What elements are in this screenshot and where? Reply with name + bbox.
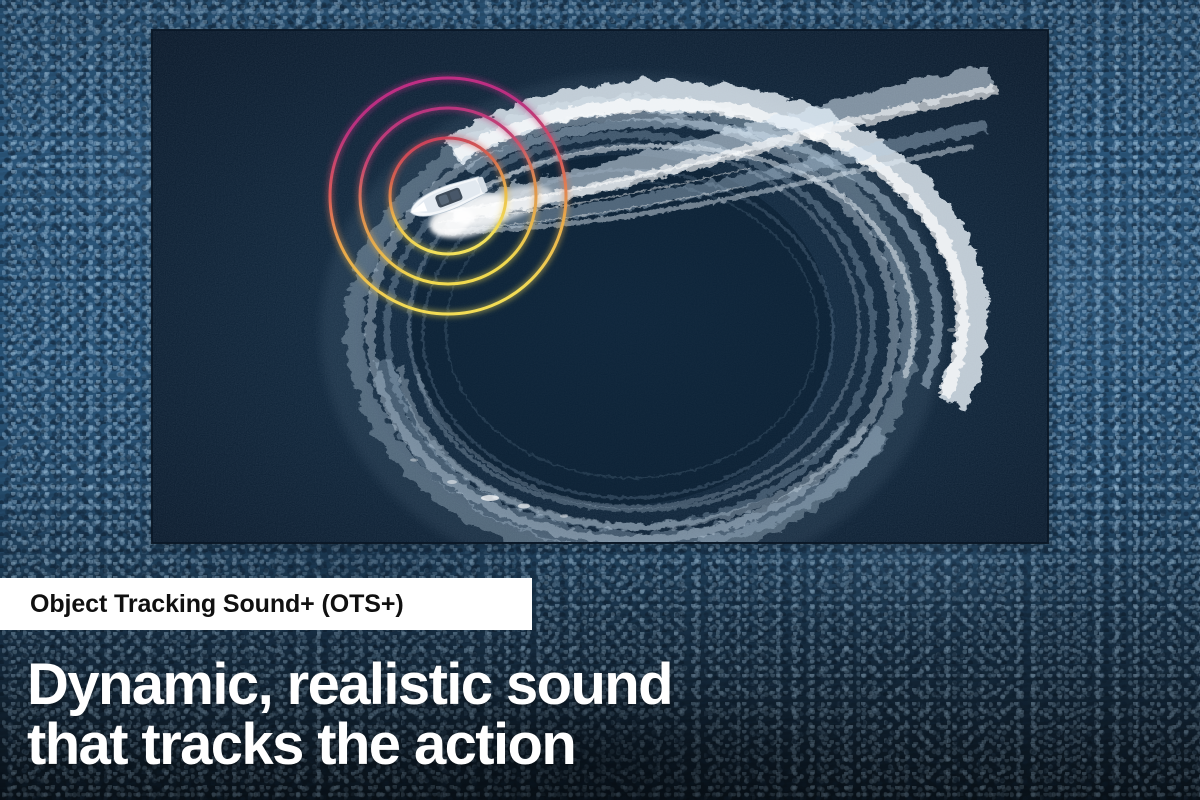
- headline-line-1: Dynamic, realistic sound: [27, 655, 747, 715]
- ocean-scene-illustration: [152, 30, 1048, 543]
- feature-badge-label: Object Tracking Sound+ (OTS+): [0, 590, 404, 619]
- headline-line-2: that tracks the action: [27, 715, 747, 775]
- tv-screen-panel: [152, 30, 1048, 543]
- feature-badge: Object Tracking Sound+ (OTS+): [0, 578, 532, 630]
- headline: Dynamic, realistic sound that tracks the…: [27, 655, 747, 775]
